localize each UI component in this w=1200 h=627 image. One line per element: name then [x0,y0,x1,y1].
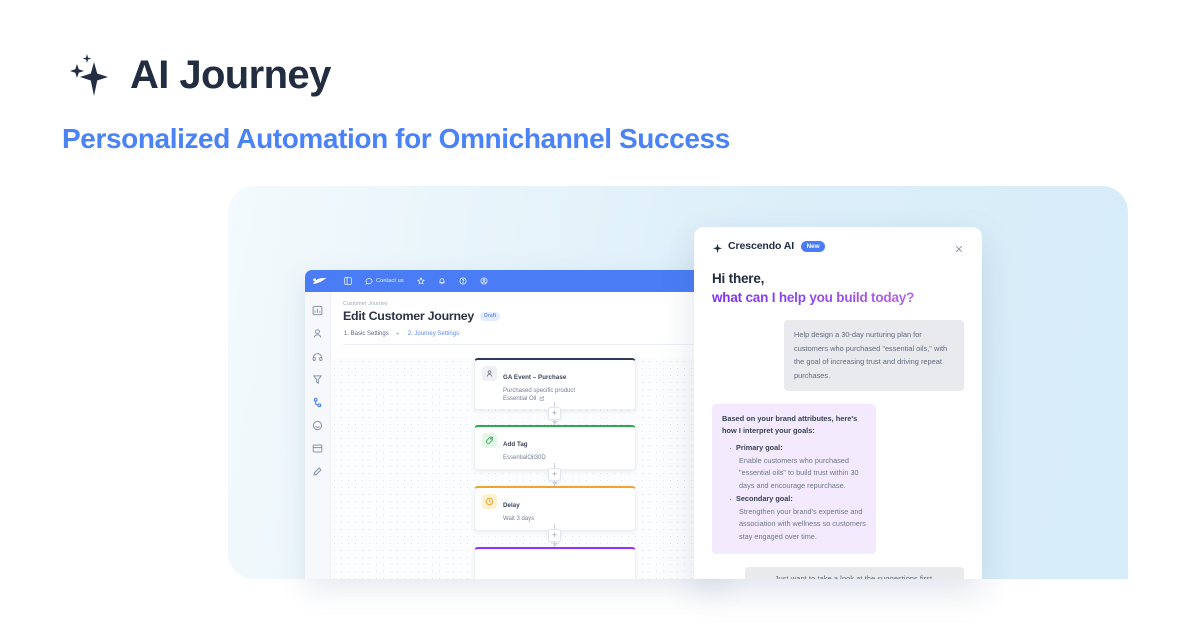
person-icon [482,366,497,381]
breadcrumb[interactable]: Customer Journey [331,292,725,307]
journey-node-text: Add Tag EssentialOil30D [503,433,546,462]
step-journey-settings[interactable]: 2. Journey Settings [408,331,459,337]
node-desc: Wait 3 days [503,515,534,523]
hero-section: AI Journey Personalized Automation for O… [62,48,730,155]
sidebar-item-chat[interactable] [312,418,323,429]
goal-body: Enable customers who purchased "essentia… [729,455,866,493]
goal-body: Strengthen your brand's expertise and as… [729,506,866,544]
list-item: Primary goal: [729,442,866,455]
connector-arrow-icon [552,543,558,546]
crescendo-ai-panel: Crescendo AI New Hi there, what can I he… [694,227,982,579]
sparkle-icon [62,48,116,102]
external-link-icon [539,396,545,402]
new-badge: New [801,241,825,252]
chat-greeting: Hi there, what can I help you build toda… [712,271,964,305]
sidebar-item-dashboard[interactable] [312,303,323,314]
app-topbar: Contact us [305,270,725,292]
goal-label: Primary goal: [736,443,783,452]
chat-header: Crescendo AI New [712,227,964,252]
journey-node-text: GA Event – Purchase Purchased specific p… [503,366,575,402]
sidebar-item-broadcast[interactable] [312,349,323,360]
tag-icon [482,433,497,448]
add-node-button[interactable]: + [548,468,561,481]
hero-subtitle: Personalized Automation for Omnichannel … [62,124,730,155]
node-title: Add Tag [503,441,528,448]
goal-label: Secondary goal: [736,494,793,503]
sidebar-item-settings[interactable] [312,464,323,475]
clock-icon [482,494,497,509]
chat-message-user: Help design a 30-day nurturing plan for … [784,320,964,391]
sidebar-item-forms[interactable] [312,441,323,452]
journey-node-next[interactable] [474,547,636,579]
connector-arrow-icon [552,421,558,424]
app-page-title: Edit Customer Journey [343,309,474,323]
ai-response-heading: Based on your brand attributes, here's h… [722,413,866,437]
node-title: GA Event – Purchase [503,374,566,381]
chat-message-ai: Based on your brand attributes, here's h… [712,404,876,554]
app-main: Customer Journey Edit Customer Journey D… [331,292,725,579]
chat-message-followup: Just want to take a look at the suggesti… [745,567,964,579]
star-icon[interactable] [417,277,425,285]
node-desc: Purchased specific product [503,387,575,395]
greeting-line-2: what can I help you build today? [712,290,964,305]
bell-icon[interactable] [438,277,446,285]
step-nav: 1. Basic Settings ▸ 2. Journey Settings [331,323,725,337]
page-root: AI Journey Personalized Automation for O… [0,0,1200,627]
divider [343,344,713,345]
list-item: Secondary goal: [729,493,866,506]
step-basic-settings[interactable]: 1. Basic Settings [344,331,389,337]
sidebar-item-funnel[interactable] [312,372,323,383]
connector-arrow-icon [552,482,558,485]
node-link-label: Essential Oil [503,396,536,402]
chat-title: Crescendo AI [728,240,794,252]
add-node-button[interactable]: + [548,407,561,420]
status-badge: Draft [480,312,500,321]
close-icon[interactable] [954,241,964,251]
journey-canvas[interactable]: GA Event – Purchase Purchased specific p… [331,358,725,579]
add-node-button[interactable]: + [548,529,561,542]
node-title: Delay [503,502,520,509]
ai-goal-list: Primary goal: Enable customers who purch… [729,442,866,543]
node-link-row[interactable]: Essential Oil [503,396,575,402]
profile-circle-icon[interactable] [480,277,488,285]
grid-icon[interactable] [344,277,352,285]
step-separator-icon: ▸ [397,330,400,337]
sidebar-item-contacts[interactable] [312,326,323,337]
app-window: Contact us [305,270,725,579]
page-title: AI Journey [130,55,331,95]
app-sidebar [305,292,331,579]
sidebar-item-journey[interactable] [312,395,323,406]
app-topnav: Contact us [344,277,488,285]
contact-us-button[interactable]: Contact us [365,277,404,285]
help-circle-icon[interactable] [459,277,467,285]
journey-node-text: Delay Wait 3 days [503,494,534,523]
page-title-row: Edit Customer Journey Draft [331,307,725,323]
node-desc: EssentialOil30D [503,454,546,462]
contact-us-label: Contact us [376,278,404,284]
hero-title-row: AI Journey [62,48,730,102]
brand-logo-icon[interactable] [312,275,328,287]
app-body: Customer Journey Edit Customer Journey D… [305,292,725,579]
greeting-line-1: Hi there, [712,271,964,286]
sparkle-icon [712,241,723,252]
